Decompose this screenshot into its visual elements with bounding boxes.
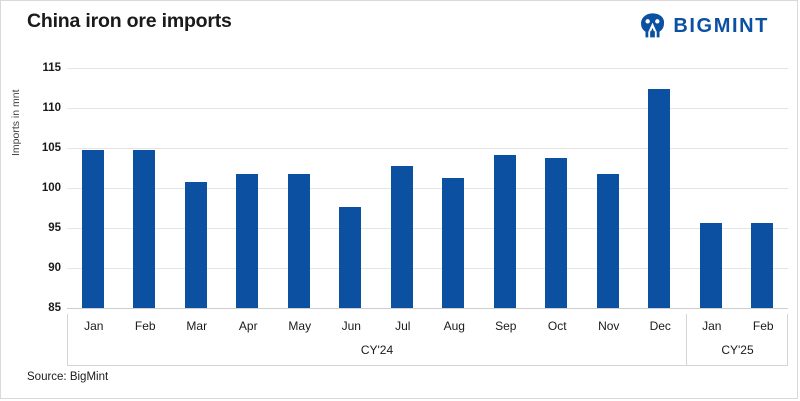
bar-nov-10[interactable] bbox=[597, 174, 619, 308]
x-axis-group-label: CY'24 bbox=[361, 343, 393, 357]
x-axis-label-box: JanFebMarAprMayJunJulAugSepOctNovDecJanF… bbox=[67, 314, 788, 366]
x-axis-month-label: Jan bbox=[84, 319, 103, 333]
bar-feb-1[interactable] bbox=[133, 150, 155, 308]
x-axis-month-label: Jul bbox=[395, 319, 410, 333]
bar-feb-13[interactable] bbox=[751, 223, 773, 308]
y-axis-tick-labels: 115110105100959085 bbox=[9, 1, 61, 400]
bar-oct-9[interactable] bbox=[545, 158, 567, 308]
bar-may-4[interactable] bbox=[288, 174, 310, 308]
bar-jan-12[interactable] bbox=[700, 223, 722, 308]
x-axis-month-label: Feb bbox=[135, 319, 156, 333]
y-axis-tick-label: 90 bbox=[17, 262, 61, 274]
x-axis-month-label: Sep bbox=[495, 319, 516, 333]
x-axis-group-label: CY'25 bbox=[721, 343, 753, 357]
bar-sep-8[interactable] bbox=[494, 155, 516, 308]
y-axis-tick-label: 115 bbox=[17, 62, 61, 74]
bar-aug-7[interactable] bbox=[442, 178, 464, 308]
x-axis-month-label: Jun bbox=[342, 319, 361, 333]
bar-jan-0[interactable] bbox=[82, 150, 104, 308]
chart-plot-area: Imports in mnt 115110105100959085 JanFeb… bbox=[1, 1, 799, 400]
y-axis-tick-label: 100 bbox=[17, 182, 61, 194]
x-axis-month-label: May bbox=[288, 319, 311, 333]
x-axis-month-label: Dec bbox=[650, 319, 671, 333]
x-axis-month-label: Apr bbox=[239, 319, 258, 333]
x-axis-month-label: Mar bbox=[186, 319, 207, 333]
bar-dec-11[interactable] bbox=[648, 89, 670, 308]
group-divider bbox=[686, 314, 687, 366]
bar-apr-3[interactable] bbox=[236, 174, 258, 308]
x-axis-month-label: Oct bbox=[548, 319, 567, 333]
bar-jul-6[interactable] bbox=[391, 166, 413, 308]
y-axis-tick-label: 110 bbox=[17, 102, 61, 114]
x-axis-month-label: Jan bbox=[702, 319, 721, 333]
x-axis-month-label: Nov bbox=[598, 319, 619, 333]
bar-mar-2[interactable] bbox=[185, 182, 207, 308]
y-axis-tick-label: 85 bbox=[17, 302, 61, 314]
x-axis-month-label: Aug bbox=[444, 319, 465, 333]
chart-card: China iron ore imports BIGMINT Imports i… bbox=[0, 0, 798, 399]
y-axis-tick-label: 95 bbox=[17, 222, 61, 234]
x-axis-month-label: Feb bbox=[753, 319, 774, 333]
source-note: Source: BigMint bbox=[27, 371, 108, 383]
bar-jun-5[interactable] bbox=[339, 207, 361, 308]
y-axis-tick-label: 105 bbox=[17, 142, 61, 154]
